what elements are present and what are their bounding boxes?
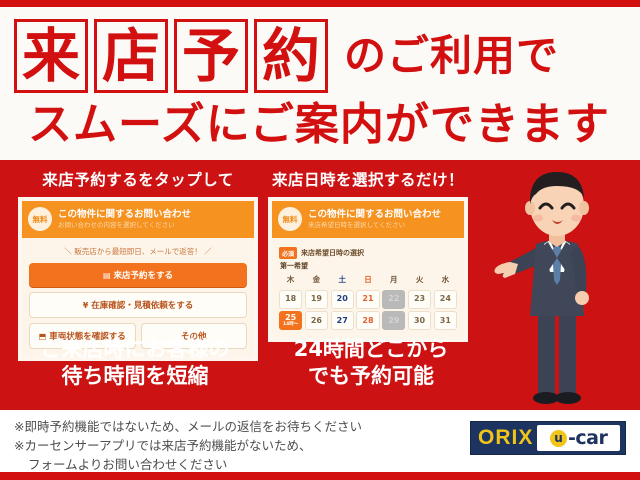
top-red-rule xyxy=(0,0,640,7)
calendar-day-19[interactable]: 19 xyxy=(305,290,328,309)
calendar-day-number: 21 xyxy=(362,295,373,303)
calendar-day-23[interactable]: 23 xyxy=(408,290,431,309)
calendar-day-number: 22 xyxy=(388,295,399,303)
stock-estimate-label: 在庫確認・見積依頼をする xyxy=(91,301,193,311)
salesman-illustration xyxy=(492,152,622,410)
calendar-day-number: 24 xyxy=(440,295,451,303)
free-badge: 無料 xyxy=(28,207,52,231)
orix-ucar-logo: ORIX u -car xyxy=(470,421,626,455)
left-mock-header: 無料 この物件に関するお問い合わせ お問い合わせの内容を選択してください xyxy=(22,201,254,238)
free-badge: 無料 xyxy=(278,207,302,231)
left-mock-note: ＼ 販売店から最短即日、メールで返答！ ／ xyxy=(29,246,247,257)
benefit-right-line1: 24時間どこから xyxy=(266,336,476,363)
kanji-box-4: 約 xyxy=(254,19,328,93)
calendar-day-24[interactable]: 24 xyxy=(434,290,457,309)
calendar-tagline: 必須 来店希望日時の選択 xyxy=(279,247,457,259)
car-wordmark: -car xyxy=(568,427,607,449)
calendar-preference-label: 第一希望 xyxy=(280,261,457,271)
left-mock-subtitle: お問い合わせの内容を選択してください xyxy=(58,221,248,229)
calendar-day-25[interactable]: 2514時～ xyxy=(279,311,302,330)
footer-notes: ※即時予約機能ではないため、メールの返信をお待ちください ※カーセンサーアプリで… xyxy=(14,418,464,474)
bottom-red-rule xyxy=(0,472,640,480)
calendar-weekday-火: 火 xyxy=(408,274,431,287)
calendar-day-number: 23 xyxy=(414,295,425,303)
ucar-wordmark: u -car xyxy=(537,425,620,451)
calendar-day-number: 25 xyxy=(285,314,296,322)
column-left: 来店予約するをタップして 無料 この物件に関するお問い合わせ お問い合わせの内容… xyxy=(18,160,258,361)
footer-note-2: ※カーセンサーアプリでは来店予約機能がないため、 xyxy=(14,437,464,456)
calendar-day-grid[interactable]: 181920212223242514時～262728293031 xyxy=(279,290,457,331)
kanji-box-2: 店 xyxy=(94,19,168,93)
right-mock-title: この物件に関するお問い合わせ xyxy=(308,209,458,220)
benefit-left-line1: ご来店時にお客様の xyxy=(10,336,260,363)
calendar-day-26[interactable]: 26 xyxy=(305,311,328,330)
calendar-weekday-日: 日 xyxy=(356,274,379,287)
calendar-day-number: 29 xyxy=(388,317,399,325)
reserve-visit-button[interactable]: ▤来店予約をする xyxy=(29,263,247,287)
left-mock-title: この物件に関するお問い合わせ xyxy=(58,209,248,220)
calendar-day-number: 30 xyxy=(414,317,425,325)
right-mock-subtitle: 来店希望日時を選択してください xyxy=(308,221,458,229)
calendar-day-27[interactable]: 27 xyxy=(331,311,354,330)
calendar-day-number: 20 xyxy=(337,295,348,303)
headline-row-2: スムーズにご案内ができます xyxy=(28,103,610,147)
calendar-weekday-水: 水 xyxy=(434,274,457,287)
calendar-day-20[interactable]: 20 xyxy=(331,290,354,309)
yen-icon: ¥ xyxy=(83,301,89,310)
orix-wordmark: ORIX xyxy=(476,426,537,450)
reserve-visit-label: 来店予約をする xyxy=(114,271,174,281)
calendar-day-18[interactable]: 18 xyxy=(279,290,302,309)
left-column-caption: 来店予約するをタップして xyxy=(18,160,258,190)
benefit-left-line2: 待ち時間を短縮 xyxy=(10,363,260,390)
calendar-day-number: 28 xyxy=(362,317,373,325)
store-icon: ▤ xyxy=(103,271,111,280)
stock-estimate-button[interactable]: ¥在庫確認・見積依頼をする xyxy=(29,292,247,318)
calendar-day-30[interactable]: 30 xyxy=(408,311,431,330)
benefit-left: ご来店時にお客様の 待ち時間を短縮 xyxy=(10,336,260,390)
calendar-day-number: 18 xyxy=(285,295,296,303)
calendar-weekday-row: 木金土日月火水 xyxy=(279,274,457,287)
calendar-weekday-月: 月 xyxy=(382,274,405,287)
calendar-day-number: 19 xyxy=(311,295,322,303)
right-mock-panel: 無料 この物件に関するお問い合わせ 来店希望日時を選択してください 必須 来店希… xyxy=(268,197,468,342)
calendar-day-21[interactable]: 21 xyxy=(356,290,379,309)
right-column-caption: 来店日時を選択するだけ！ xyxy=(268,160,468,190)
calendar-weekday-金: 金 xyxy=(305,274,328,287)
calendar-day-number: 26 xyxy=(311,317,322,325)
calendar-day-number: 27 xyxy=(337,317,348,325)
calendar-day-22: 22 xyxy=(382,290,405,309)
calendar-day-number: 31 xyxy=(440,317,451,325)
calendar-day-29: 29 xyxy=(382,311,405,330)
headline-tail: のご利用で xyxy=(344,35,559,77)
footer-note-1: ※即時予約機能ではないため、メールの返信をお待ちください xyxy=(14,418,464,437)
required-tag: 必須 xyxy=(279,247,297,259)
calendar-day-31[interactable]: 31 xyxy=(434,311,457,330)
kanji-box-1: 来 xyxy=(14,19,88,93)
headline-row-1: 来 店 予 約 のご利用で xyxy=(14,19,559,93)
headline-section: 来 店 予 約 のご利用で スムーズにご案内ができます xyxy=(0,7,640,160)
calendar-weekday-木: 木 xyxy=(279,274,302,287)
kanji-box-3: 予 xyxy=(174,19,248,93)
column-right: 来店日時を選択するだけ！ 無料 この物件に関するお問い合わせ 来店希望日時を選択… xyxy=(268,160,468,342)
calendar-day-time: 14時～ xyxy=(283,323,298,328)
benefit-right: 24時間どこから でも予約可能 xyxy=(266,336,476,390)
promo-banner: 来 店 予 約 のご利用で スムーズにご案内ができます 来店予約するをタップして… xyxy=(0,0,640,480)
calendar-weekday-土: 土 xyxy=(331,274,354,287)
u-circle-icon: u xyxy=(550,430,567,447)
calendar-tag-label: 来店希望日時の選択 xyxy=(301,248,364,258)
benefit-right-line2: でも予約可能 xyxy=(266,363,476,390)
right-mock-header: 無料 この物件に関するお問い合わせ 来店希望日時を選択してください xyxy=(272,201,464,238)
calendar-day-28[interactable]: 28 xyxy=(356,311,379,330)
right-mock-body: 必須 来店希望日時の選択 第一希望 木金土日月火水 18192021222324… xyxy=(272,238,464,338)
